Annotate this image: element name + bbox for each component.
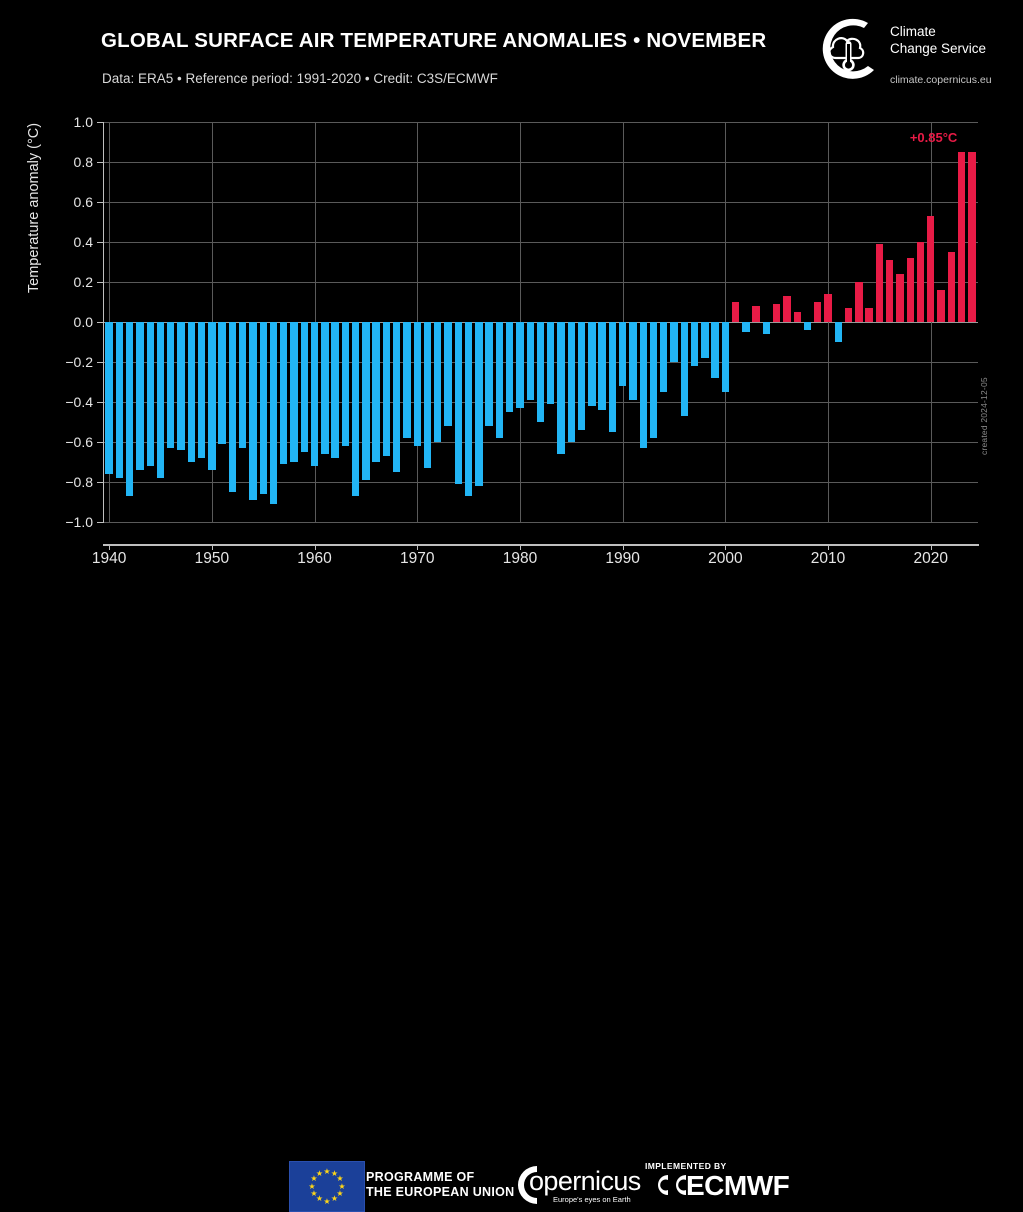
chart-bar bbox=[557, 322, 564, 454]
chart-bar bbox=[814, 302, 821, 322]
chart-bar bbox=[465, 322, 472, 496]
y-axis-tick-mark bbox=[97, 202, 104, 203]
chart-bar bbox=[301, 322, 308, 452]
y-axis-tick-label: 0.4 bbox=[45, 234, 93, 250]
chart-bar bbox=[496, 322, 503, 438]
x-axis-tick-label: 1960 bbox=[297, 550, 331, 568]
chart-bar bbox=[352, 322, 359, 496]
eu-flag-icon: ★★★★★★★★★★★★ bbox=[289, 1161, 365, 1212]
chart-bar bbox=[424, 322, 431, 468]
chart-bar bbox=[218, 322, 225, 444]
chart-bar bbox=[598, 322, 605, 410]
ecmwf-wordmark: ECMWF bbox=[686, 1170, 789, 1202]
chart-bar bbox=[609, 322, 616, 432]
y-axis-tick-mark bbox=[97, 162, 104, 163]
gridline-vertical bbox=[828, 122, 829, 522]
copernicus-logo: opernicus Europe's eyes on Earth bbox=[511, 1162, 629, 1210]
ecmwf-logo-icon bbox=[648, 1172, 690, 1198]
chart-bar bbox=[342, 322, 349, 446]
chart-bar bbox=[403, 322, 410, 438]
page-title: GLOBAL SURFACE AIR TEMPERATURE ANOMALIES… bbox=[101, 29, 766, 53]
y-axis-tick-label: 0.8 bbox=[45, 154, 93, 170]
chart-bar bbox=[270, 322, 277, 504]
chart-bar bbox=[105, 322, 112, 474]
chart-bar bbox=[280, 322, 287, 464]
y-axis-tick-mark bbox=[97, 402, 104, 403]
eu-programme-text: PROGRAMME OF THE EUROPEAN UNION bbox=[366, 1170, 514, 1200]
x-axis-tick-label: 2010 bbox=[811, 550, 845, 568]
y-axis-tick-label: −0.4 bbox=[45, 394, 93, 410]
chart-bar bbox=[588, 322, 595, 406]
x-axis-tick-mark bbox=[931, 544, 932, 550]
chart-bar bbox=[331, 322, 338, 458]
x-axis-tick-mark bbox=[623, 544, 624, 550]
y-axis-tick-label: 1.0 bbox=[45, 114, 93, 130]
y-axis-tick-label: 0.2 bbox=[45, 274, 93, 290]
eu-star-icon: ★ bbox=[323, 1168, 330, 1176]
chart-bar bbox=[968, 152, 975, 322]
c3s-brand-line2: Change Service bbox=[890, 41, 986, 58]
eu-star-icon: ★ bbox=[331, 1195, 338, 1203]
chart-bar bbox=[444, 322, 451, 426]
y-axis-tick-mark bbox=[97, 482, 104, 483]
gridline-horizontal bbox=[103, 122, 978, 123]
x-axis-tick-mark bbox=[828, 544, 829, 550]
y-axis-tick-mark bbox=[97, 522, 104, 523]
chart-bar bbox=[198, 322, 205, 458]
chart-bar bbox=[937, 290, 944, 322]
chart-bar bbox=[742, 322, 749, 332]
y-axis-tick-label: 0.6 bbox=[45, 194, 93, 210]
chart-bar bbox=[958, 152, 965, 322]
x-axis-tick-mark bbox=[109, 544, 110, 550]
footer: ★★★★★★★★★★★★ PROGRAMME OF THE EUROPEAN U… bbox=[0, 578, 1023, 640]
gridline-horizontal bbox=[103, 282, 978, 283]
chart-bar bbox=[948, 252, 955, 322]
created-timestamp: created 2024-12-05 bbox=[979, 377, 989, 455]
y-axis-tick-mark bbox=[97, 282, 104, 283]
chart-bar bbox=[239, 322, 246, 448]
gridline-horizontal bbox=[103, 202, 978, 203]
chart-plot-area bbox=[103, 122, 978, 522]
x-axis-tick-mark bbox=[725, 544, 726, 550]
chart-bar bbox=[845, 308, 852, 322]
chart-bar bbox=[855, 282, 862, 322]
y-axis-tick-mark bbox=[97, 322, 104, 323]
chart-bar bbox=[434, 322, 441, 442]
gridline-horizontal bbox=[103, 242, 978, 243]
chart-bar bbox=[547, 322, 554, 404]
chart-page: GLOBAL SURFACE AIR TEMPERATURE ANOMALIES… bbox=[0, 0, 1023, 662]
chart-bar bbox=[506, 322, 513, 412]
chart-bar bbox=[876, 244, 883, 322]
eu-star-icon: ★ bbox=[310, 1190, 317, 1198]
chart-bar bbox=[414, 322, 421, 446]
chart-bar bbox=[640, 322, 647, 448]
y-axis-tick-mark bbox=[97, 122, 104, 123]
copernicus-wordmark: opernicus bbox=[529, 1166, 641, 1197]
y-axis-tick-label: −1.0 bbox=[45, 514, 93, 530]
chart-bar bbox=[752, 306, 759, 322]
chart-bar bbox=[578, 322, 585, 430]
c3s-brand-name: Climate Change Service bbox=[890, 24, 986, 57]
eu-star-icon: ★ bbox=[323, 1198, 330, 1206]
chart-bar bbox=[629, 322, 636, 400]
chart-bar bbox=[927, 216, 934, 322]
chart-bar bbox=[311, 322, 318, 466]
eu-star-icon: ★ bbox=[316, 1170, 323, 1178]
chart-bar bbox=[917, 242, 924, 322]
chart-bar bbox=[650, 322, 657, 438]
gridline-vertical bbox=[931, 122, 932, 522]
chart-bar bbox=[865, 308, 872, 322]
y-axis-tick-label: −0.8 bbox=[45, 474, 93, 490]
chart-bar bbox=[773, 304, 780, 322]
c3s-url: climate.copernicus.eu bbox=[890, 74, 992, 86]
chart-bar bbox=[136, 322, 143, 470]
x-axis-tick-label: 2020 bbox=[914, 550, 948, 568]
chart-bar bbox=[249, 322, 256, 500]
chart-bar bbox=[362, 322, 369, 480]
y-axis-tick-mark bbox=[97, 242, 104, 243]
chart-bar bbox=[527, 322, 534, 400]
x-axis-tick-label: 2000 bbox=[708, 550, 742, 568]
chart-bar bbox=[393, 322, 400, 472]
page-subtitle: Data: ERA5 • Reference period: 1991-2020… bbox=[102, 71, 498, 86]
x-axis-tick-mark bbox=[417, 544, 418, 550]
chart-bar bbox=[824, 294, 831, 322]
chart-bar bbox=[208, 322, 215, 470]
chart-bar bbox=[383, 322, 390, 456]
chart-bar bbox=[455, 322, 462, 484]
chart-bar bbox=[886, 260, 893, 322]
cloud-thermometer-icon bbox=[812, 14, 884, 86]
x-axis-tick-mark bbox=[315, 544, 316, 550]
chart-bar bbox=[485, 322, 492, 426]
x-axis-tick-mark bbox=[520, 544, 521, 550]
y-axis-tick-label: −0.6 bbox=[45, 434, 93, 450]
x-axis-tick-mark bbox=[212, 544, 213, 550]
chart-bar bbox=[229, 322, 236, 492]
chart-bar bbox=[167, 322, 174, 448]
eu-programme-line2: THE EUROPEAN UNION bbox=[366, 1185, 514, 1200]
chart-bar bbox=[691, 322, 698, 366]
chart-bar bbox=[701, 322, 708, 358]
c3s-logo: Climate Change Service climate.copernicu… bbox=[812, 14, 1017, 96]
x-axis-tick-label: 1950 bbox=[195, 550, 229, 568]
eu-programme-line1: PROGRAMME OF bbox=[366, 1170, 514, 1185]
chart-annotation: +0.85°C bbox=[910, 130, 957, 145]
chart-bar bbox=[794, 312, 801, 322]
y-axis-tick-label: 0.0 bbox=[45, 314, 93, 330]
chart-bar bbox=[116, 322, 123, 478]
copernicus-tagline: Europe's eyes on Earth bbox=[553, 1195, 631, 1204]
chart-bar bbox=[568, 322, 575, 442]
chart-bar bbox=[157, 322, 164, 478]
x-axis-tick-label: 1980 bbox=[503, 550, 537, 568]
chart-bar bbox=[372, 322, 379, 462]
chart-bar bbox=[896, 274, 903, 322]
chart-bar bbox=[321, 322, 328, 454]
gridline-horizontal bbox=[103, 522, 978, 523]
chart-bar bbox=[732, 302, 739, 322]
eu-star-icon: ★ bbox=[308, 1183, 315, 1191]
chart-bar bbox=[907, 258, 914, 322]
chart-bar bbox=[475, 322, 482, 486]
x-axis-line bbox=[103, 544, 979, 546]
c3s-brand-line1: Climate bbox=[890, 24, 986, 41]
chart-bar bbox=[188, 322, 195, 462]
chart-bar bbox=[804, 322, 811, 330]
chart-bar bbox=[516, 322, 523, 408]
chart-bar bbox=[670, 322, 677, 362]
chart-bar bbox=[260, 322, 267, 494]
chart-bar bbox=[660, 322, 667, 392]
chart-bar bbox=[722, 322, 729, 392]
chart-bar bbox=[537, 322, 544, 422]
x-axis-tick-label: 1990 bbox=[605, 550, 639, 568]
chart-bar bbox=[290, 322, 297, 462]
chart-bar bbox=[835, 322, 842, 342]
gridline-horizontal bbox=[103, 162, 978, 163]
chart-bar bbox=[619, 322, 626, 386]
x-axis-tick-label: 1940 bbox=[92, 550, 126, 568]
chart-bar bbox=[783, 296, 790, 322]
chart-bar bbox=[177, 322, 184, 450]
y-axis-tick-label: −0.2 bbox=[45, 354, 93, 370]
y-axis-tick-mark bbox=[97, 362, 104, 363]
chart-bar bbox=[126, 322, 133, 496]
chart-bar bbox=[711, 322, 718, 378]
chart-bar bbox=[681, 322, 688, 416]
chart-bar bbox=[763, 322, 770, 334]
x-axis-tick-label: 1970 bbox=[400, 550, 434, 568]
chart-bar bbox=[147, 322, 154, 466]
y-axis-label: Temperature anomaly (°C) bbox=[26, 108, 42, 308]
y-axis-tick-mark bbox=[97, 442, 104, 443]
